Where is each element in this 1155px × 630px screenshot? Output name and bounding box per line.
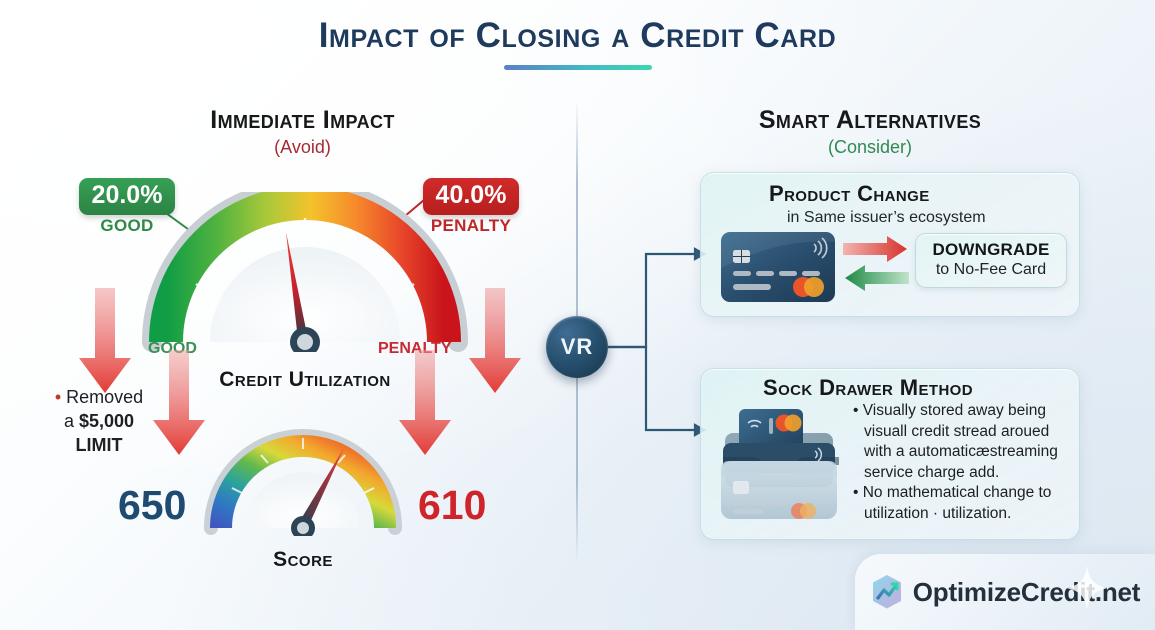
center-node-label: VR xyxy=(561,334,594,360)
credit-card-icon xyxy=(719,228,837,306)
limit-note-amount: $5,000 xyxy=(79,411,134,431)
center-node-vr[interactable]: VR xyxy=(546,316,608,378)
score-after-value: 610 xyxy=(418,482,486,529)
limit-note-line1: Removed xyxy=(66,387,143,407)
bullet-dot: • xyxy=(55,387,61,407)
gauge-score-label: Score xyxy=(203,548,403,572)
gauge-score-svg xyxy=(203,418,403,536)
page-title: Impact of Closing a Credit Card xyxy=(0,16,1155,56)
right-column-heading: Smart Alternatives xyxy=(655,106,1085,135)
list-item: • Visually stored away being xyxy=(853,401,1071,421)
card-drawer-icon xyxy=(715,407,843,527)
list-item: visuall credit stread aroued xyxy=(853,422,1071,442)
right-column-header: Smart Alternatives (Consider) xyxy=(655,106,1085,158)
swap-arrows-icon xyxy=(843,235,909,297)
left-column-heading: Immediate Impact xyxy=(115,106,490,135)
title-underline xyxy=(504,65,652,70)
sock-drawer-title: Sock Drawer Method xyxy=(763,375,973,401)
down-arrow-right xyxy=(468,288,522,396)
limit-note-line2-prefix: a xyxy=(64,411,79,431)
score-before-value: 650 xyxy=(118,482,186,529)
sparkle-icon xyxy=(1063,564,1111,612)
downgrade-chip[interactable]: DOWNGRADE to No-Fee Card xyxy=(915,233,1067,288)
list-item: • No mathematical change to xyxy=(853,483,1071,503)
sock-drawer-bullets: • Visually stored away being visuall cre… xyxy=(853,401,1071,524)
logo-plate[interactable]: OptimizeCredit.net xyxy=(855,554,1155,630)
removed-limit-note: • Removed a $5,000 LIMIT xyxy=(24,386,174,457)
list-item: utilization · utilization. xyxy=(853,504,1071,524)
optimizecredit-logo-icon xyxy=(870,574,904,610)
downgrade-chip-title: DOWNGRADE xyxy=(926,240,1056,260)
page-header: Impact of Closing a Credit Card xyxy=(0,16,1155,70)
gauge-score: Score xyxy=(203,418,403,568)
down-arrow-right-inner xyxy=(398,350,452,458)
downgrade-chip-subtitle: to No-Fee Card xyxy=(926,261,1056,279)
product-change-title: Product Change xyxy=(769,181,930,207)
list-item: with a automaticæstreaming xyxy=(853,442,1071,462)
down-arrow-left xyxy=(78,288,132,396)
left-column-header: Immediate Impact (Avoid) xyxy=(115,106,490,158)
right-column-subheading: (Consider) xyxy=(655,137,1085,158)
list-item: service charge add. xyxy=(853,463,1071,483)
panel-sock-drawer[interactable]: Sock Drawer Method • Visua xyxy=(700,368,1080,540)
panel-product-change[interactable]: Product Change in Same issuer’s ecosyste… xyxy=(700,172,1080,317)
product-change-subtitle: in Same issuer’s ecosystem xyxy=(787,209,986,227)
branch-connectors xyxy=(600,240,710,440)
limit-note-line3: LIMIT xyxy=(76,435,123,455)
gauge-utilization-svg xyxy=(140,192,470,352)
left-column-subheading: (Avoid) xyxy=(115,137,490,158)
